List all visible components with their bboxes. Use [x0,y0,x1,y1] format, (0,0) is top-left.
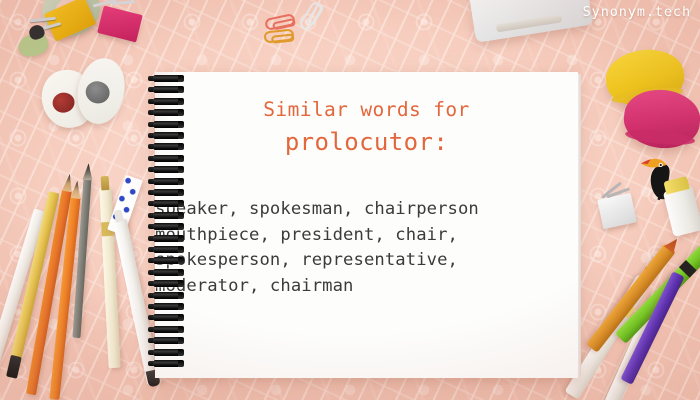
spiral-ring [148,326,184,333]
spiral-ring [148,143,184,150]
spiral-ring [148,269,184,276]
spiral-ring [148,280,184,287]
vignette-overlay [0,0,700,400]
spiral-ring [148,212,184,219]
spiral-ring [148,86,184,93]
spiral-ring [148,200,184,207]
spiral-ring [148,246,184,253]
notebook-spiral-binding [148,74,188,376]
spiral-ring [148,75,184,82]
spiral-ring [148,121,184,128]
spiral-ring [148,337,184,344]
spiral-ring [148,292,184,299]
spiral-ring [148,166,184,173]
spiral-ring [148,235,184,242]
screenshot-root: Similar words for prolocutor: speaker, s… [0,0,700,400]
spiral-ring [148,349,184,356]
spiral-ring [148,303,184,310]
spiral-ring [148,132,184,139]
site-watermark: Synonym.tech [583,4,691,20]
spiral-ring [148,257,184,264]
spiral-ring [148,189,184,196]
spiral-ring [148,314,184,321]
spiral-ring [148,109,184,116]
spiral-ring [148,155,184,162]
spiral-ring [148,223,184,230]
spiral-ring [148,98,184,105]
spiral-ring [148,360,184,367]
spiral-ring [148,178,184,185]
